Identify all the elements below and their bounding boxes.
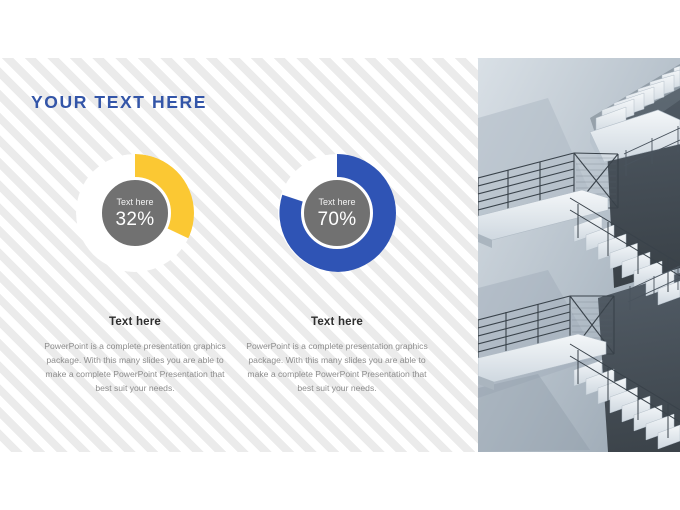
donut-hub-yellow: Text here 32% — [99, 177, 171, 249]
text-block-body: PowerPoint is a complete presentation gr… — [237, 340, 437, 396]
text-block-heading: Text here — [237, 316, 437, 328]
slide-canvas: YOUR TEXT HERE Text here 32% Text here 7… — [0, 0, 680, 510]
text-block-right: Text here PowerPoint is a complete prese… — [237, 316, 437, 396]
staircase-illustration — [478, 58, 680, 452]
concrete-staircase-photo — [478, 58, 680, 452]
text-block-body: PowerPoint is a complete presentation gr… — [35, 340, 235, 396]
text-block-heading: Text here — [35, 316, 235, 328]
donut-chart-yellow: Text here 32% — [76, 154, 194, 272]
donut-chart-blue: Text here 70% — [278, 154, 396, 272]
donut-center-value: 70% — [318, 210, 357, 229]
donut-center-label: Text here — [318, 198, 355, 207]
donut-center-value: 32% — [116, 210, 155, 229]
text-block-left: Text here PowerPoint is a complete prese… — [35, 316, 235, 396]
page-title: YOUR TEXT HERE — [31, 92, 207, 113]
donut-center-label: Text here — [116, 198, 153, 207]
donut-hub-blue: Text here 70% — [301, 177, 373, 249]
